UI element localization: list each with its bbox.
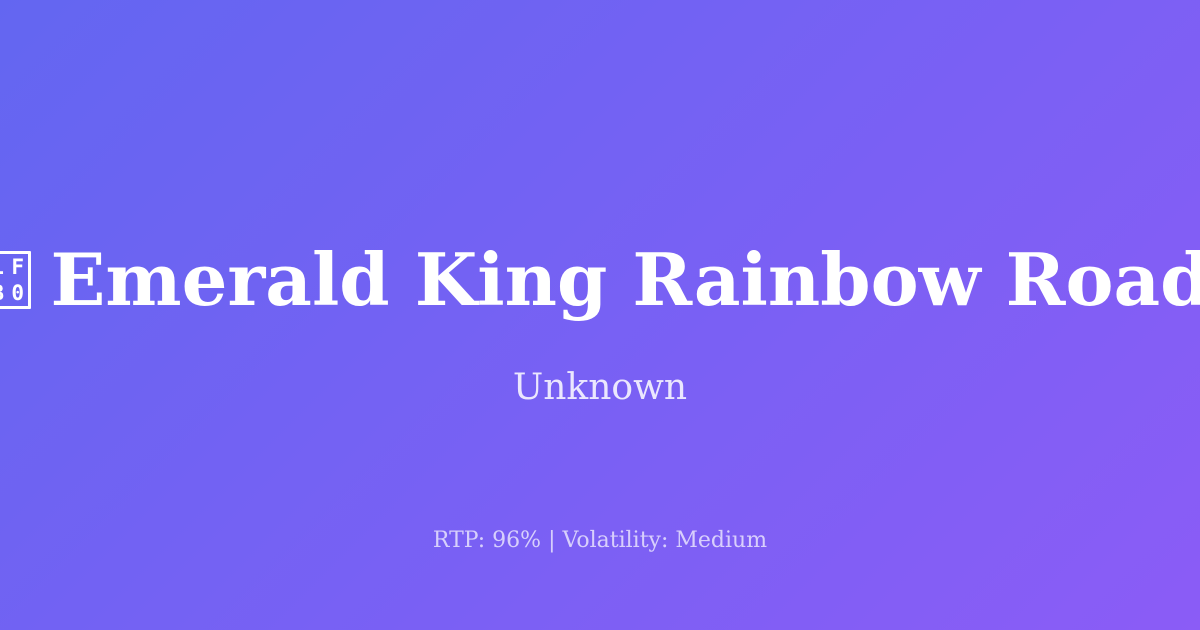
og-share-card: 1 F B 0 Emerald King Rainbow Road Unknow… (0, 0, 1200, 630)
game-stats-footer: RTP: 96% | Volatility: Medium (0, 528, 1200, 554)
title-row: 1 F B 0 Emerald King Rainbow Road (0, 238, 1200, 322)
tofu-hex-1: 1 (0, 257, 4, 278)
page-subtitle: Unknown (0, 366, 1200, 409)
page-title: Emerald King Rainbow Road (51, 244, 1200, 316)
tofu-hex-4: 0 (11, 283, 23, 304)
slot-machine-icon: 1 F B 0 (0, 251, 31, 309)
tofu-hex-3: B (0, 283, 4, 304)
tofu-hex-2: F (11, 257, 23, 278)
